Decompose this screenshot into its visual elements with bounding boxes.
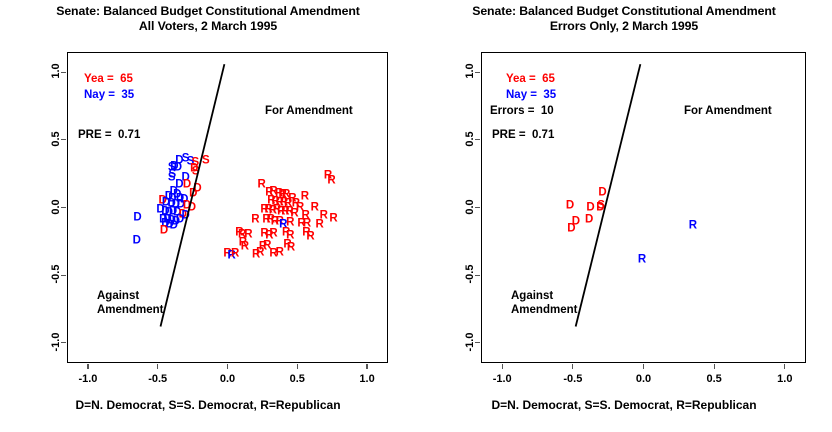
cutting-line-all	[0, 0, 416, 432]
panel-errors-only: Senate: Balanced Budget Constitutional A…	[416, 0, 832, 432]
cutting-line-errors	[416, 0, 832, 432]
figure-root: Senate: Balanced Budget Constitutional A…	[0, 0, 832, 432]
panel-all-voters: Senate: Balanced Budget Constitutional A…	[0, 0, 416, 432]
x-axis-caption-all: D=N. Democrat, S=S. Democrat, R=Republic…	[0, 398, 416, 412]
x-axis-caption-errors: D=N. Democrat, S=S. Democrat, R=Republic…	[416, 398, 832, 412]
